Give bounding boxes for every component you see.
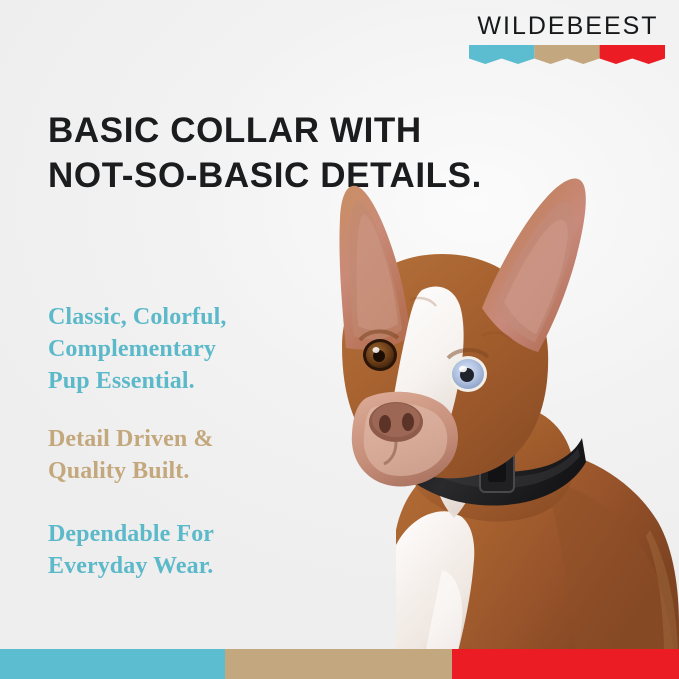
logo-color-bar-icon xyxy=(469,45,665,66)
footer-segment-tan xyxy=(225,649,452,679)
headline: BASIC COLLAR WITH NOT-SO-BASIC DETAILS. xyxy=(48,109,608,199)
benefit-dependable: Dependable For Everyday Wear. xyxy=(48,519,318,583)
footer-segment-teal xyxy=(0,649,225,679)
footer-color-bar xyxy=(0,649,679,679)
benefit-quality: Detail Driven & Quality Built. xyxy=(48,424,318,488)
brand-wordmark: WILDEBEEST xyxy=(469,14,665,39)
benefit-classic: Classic, Colorful, Complementary Pup Ess… xyxy=(48,302,318,398)
footer-segment-red xyxy=(452,649,679,679)
brand-logo[interactable]: WILDEBEEST xyxy=(469,14,665,66)
advertisement-canvas: WILDEBEEST BASIC COLLAR WITH NOT-SO-BASI… xyxy=(0,0,679,679)
